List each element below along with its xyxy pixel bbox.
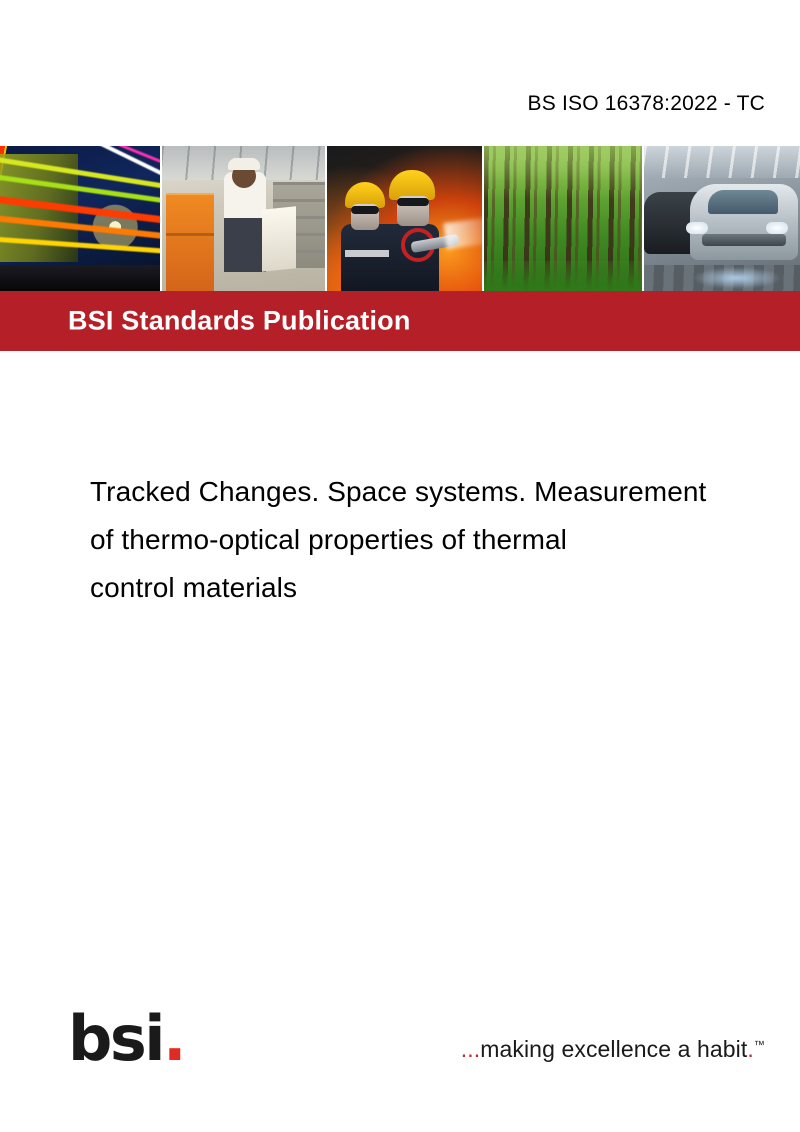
title-line-3: control materials — [90, 564, 800, 612]
document-reference: BS ISO 16378:2022 - TC — [528, 92, 765, 116]
photo-panel-forest — [484, 146, 642, 291]
forest-floor — [484, 261, 642, 291]
standards-publication-banner: BSI Standards Publication — [0, 291, 800, 351]
bsi-standards-cover-page: { "document": { "reference": "BS ISO 163… — [0, 0, 800, 1132]
photo-panel-car-assembly-line — [644, 146, 800, 291]
car-headlight — [766, 222, 788, 234]
worker-cap — [228, 158, 260, 170]
water-spray — [443, 217, 482, 249]
title-line-2: of thermo-optical properties of thermal — [90, 516, 800, 564]
bsi-tagline: ...making excellence a habit.™ — [461, 1036, 765, 1063]
cover-photo-strip — [0, 146, 800, 291]
road-surface — [0, 265, 160, 291]
firefighter-visor — [351, 206, 379, 214]
bsi-logo-dot: . — [163, 1002, 184, 1075]
page-title: Tracked Changes. Space systems. Measurem… — [90, 468, 800, 612]
headlight-glow — [692, 267, 782, 289]
car-headlight — [686, 222, 708, 234]
tagline-text: making excellence a habit — [480, 1036, 747, 1062]
bsi-logo-wordmark: bsi — [68, 1002, 163, 1075]
title-line-1: Tracked Changes. Space systems. Measurem… — [90, 468, 800, 516]
bsi-logo: bsi. — [68, 1008, 248, 1070]
photo-panel-night-traffic-light-trails — [0, 146, 160, 291]
car-grille — [702, 234, 786, 246]
banner-label: BSI Standards Publication — [68, 306, 411, 337]
tagline-leading-ellipsis: ... — [461, 1036, 480, 1062]
trademark-icon: ™ — [754, 1039, 765, 1051]
factory-ceiling — [644, 146, 800, 178]
orange-crate — [166, 193, 214, 291]
car-windshield — [708, 190, 778, 214]
forest-canopy — [484, 146, 642, 200]
hi-vis-stripe — [345, 250, 389, 257]
photo-panel-firefighters — [327, 146, 482, 291]
firefighter-visor — [397, 198, 429, 206]
photo-panel-warehouse-worker — [162, 146, 325, 291]
carton — [262, 206, 296, 272]
